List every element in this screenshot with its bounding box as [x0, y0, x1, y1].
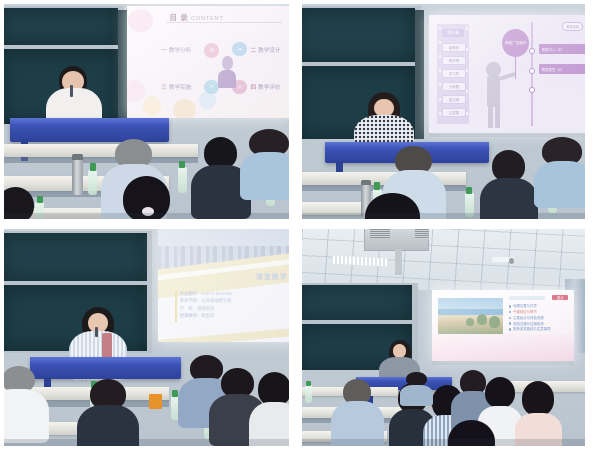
filmstrip-perforation: [466, 48, 468, 51]
avatar-body: [218, 70, 236, 88]
filmstrip-perforation: [466, 90, 468, 93]
foreground-shadow: [4, 439, 289, 446]
slide-item-3: 三教学实施: [161, 83, 191, 91]
collage-panel-top-right: 教学目标 第五章 新教材 教学情 学习时 分析数 重点难: [296, 0, 590, 225]
filmstrip-perforation: [439, 112, 441, 115]
bottle-cap-2: [172, 390, 178, 397]
slide-sidebar-item-2: 教学情: [442, 56, 466, 65]
slide-photo-tree-1: [477, 314, 487, 325]
audience-body-8: [400, 385, 433, 406]
slide-title: 目 录 CONTENT: [170, 12, 224, 23]
slide-field-label-2: 参评学部：: [180, 298, 201, 303]
lecture-podium: [10, 118, 170, 142]
student-desk-row-1: [4, 144, 198, 157]
bullet-dot-icon: [509, 311, 512, 314]
filmstrip-perforation: [466, 69, 468, 72]
slide-field-value-1: How to describe: [201, 291, 232, 296]
slide-item-1-num: 一: [161, 48, 167, 54]
foreground-shadow: [302, 213, 585, 219]
orange-cup: [149, 394, 162, 409]
audience-member-3: [489, 150, 529, 219]
slide-field-label-4: 授课教师：: [180, 313, 201, 318]
slide-timeline-node-1: [529, 48, 535, 54]
slide-pink-wash: [432, 334, 574, 361]
slide-figure-leg-right: [495, 105, 500, 129]
audience-body-4: [534, 161, 585, 209]
audience-member-5: [255, 372, 289, 446]
slide-item-2-num: 二: [251, 48, 257, 54]
projection-screen: 重点 地理位置与环境 气候特征与季节 主要景点与特色资源 旅游交通与住宿安排 推…: [432, 290, 574, 362]
collage-panel-top-left: 目 录 CONTENT 一教学分析 ▤ ☁ 二教学设计 三教学实施 ✕ ◎: [0, 0, 296, 225]
slide-title-rule: [166, 22, 282, 23]
classroom-photo-top-right: 教学目标 第五章 新教材 教学情 学习时 分析数 重点难: [302, 4, 585, 219]
audience-member-4: [540, 137, 585, 202]
collage-panel-bottom-left: 课堂教学 作品题目：How to describe 参评学部：公共基础教学部 学…: [0, 225, 296, 450]
audience-body-4: [240, 152, 289, 200]
slide-sidebar-item-1: 新教材: [442, 43, 466, 52]
slide-item-1: 一教学分析: [161, 46, 191, 54]
slide-fields: 作品题目：How to describe 参评学部：公共基础教学部 学 科：基础…: [180, 290, 232, 320]
lecture-podium: [30, 357, 181, 379]
slide-bullet-5: 推荐游览路线与注意事项: [509, 326, 551, 331]
chalkboard-upper: [4, 233, 147, 281]
bottle-cap-1: [90, 163, 96, 171]
slide-blob-1: [128, 9, 153, 31]
audience-member-2: [87, 379, 130, 446]
slide-avatar-icon: [217, 56, 237, 87]
slide-bullet-4-text: 旅游交通与住宿安排: [513, 322, 544, 326]
slide-field-value-3: 基础英语: [197, 306, 214, 311]
thermos-flask: [72, 159, 82, 196]
slide-timeline-node-3: [529, 87, 535, 93]
ceiling-speaker: [509, 258, 515, 263]
water-bottle-1: [88, 170, 97, 196]
slide-photo-tree-2: [489, 316, 501, 328]
slide-balloon: 网络广告制作: [502, 29, 529, 57]
audience-member-8: [404, 372, 429, 402]
slide-field-value-4: 柳圣岚: [201, 313, 214, 318]
slide-blob-3: [143, 96, 161, 116]
slide-figure-arm: [499, 72, 517, 81]
slide-accent-bar: [175, 291, 177, 321]
filmstrip-perforation: [439, 55, 441, 58]
slide-bullet-2-text: 气候特征与季节: [513, 310, 537, 314]
podium-top: [30, 357, 181, 363]
podium-top: [10, 118, 170, 124]
filmstrip-perforation: [466, 112, 468, 115]
slide-field-label-1: 作品题目：: [180, 291, 201, 296]
water-bottle-2: [178, 167, 187, 193]
audience-member-3: [201, 137, 241, 210]
slide-item-3-num: 三: [161, 85, 167, 91]
audience-member-1: [339, 379, 376, 444]
slide-blob-2: [127, 80, 145, 102]
filmstrip-perforation: [466, 27, 468, 30]
audience-member-6: [520, 381, 557, 446]
audience-member-1: [4, 366, 38, 435]
slide-figure-leg-left: [488, 105, 493, 129]
slide-bullet-2: 气候特征与季节: [509, 309, 537, 314]
slide-field-value-2: 公共基础教学部: [201, 298, 231, 303]
slide-chip-2: ☁: [232, 42, 247, 57]
slide-bullet-1-text: 地理位置与环境: [513, 304, 537, 308]
thermos-cap: [72, 154, 82, 160]
slide-heading-box: [509, 296, 546, 300]
slide-item-4-num: 四: [251, 85, 257, 91]
foreground-shadow: [4, 213, 289, 219]
slide-red-tag: 重点: [552, 295, 568, 300]
slide-sidebar-item-5: 重点难: [442, 95, 466, 104]
bottle-cap-4: [37, 196, 43, 202]
audience-hair-6: [522, 381, 554, 416]
slide-figure-torso: [487, 76, 500, 107]
slide-bullet-3: 主要景点与特色资源: [509, 315, 544, 320]
foreground-shadow: [302, 439, 585, 446]
ac-duct: [395, 249, 402, 275]
slide-sidebar-item-6: 达成果: [442, 108, 466, 117]
slide-timeline-item-2: 情境探究（5′）: [539, 64, 585, 73]
bullet-dot-icon: [509, 328, 512, 331]
chalkboard-upper: [302, 285, 412, 320]
slide-item-2: 二教学设计: [251, 46, 281, 54]
classroom-photo-bottom-left: 课堂教学 作品题目：How to describe 参评学部：公共基础教学部 学…: [4, 229, 289, 446]
bullet-dot-icon: [509, 317, 512, 320]
slide-figure-head: [486, 62, 500, 77]
slide-sidebar-item-3: 学习时: [442, 69, 466, 78]
slide-bullet-4: 旅游交通与住宿安排: [509, 321, 544, 326]
slide-chip-1: ▤: [204, 43, 219, 58]
projection-screen: 课堂教学 作品题目：How to describe 参评学部：公共基础教学部 学…: [158, 229, 289, 342]
filmstrip-perforation: [439, 83, 441, 86]
water-bottle-1: [305, 385, 312, 402]
chalkboard-upper: [302, 8, 415, 62]
slide-timeline-item-1: 情境引入（5′）: [539, 44, 585, 53]
collage-panel-bottom-right: 重点 地理位置与环境 气候特征与季节 主要景点与特色资源 旅游交通与住宿安排 推…: [296, 225, 590, 450]
filmstrip-perforation: [439, 41, 441, 44]
slide-sidebar-item-4: 分析数: [442, 82, 466, 91]
bottle-cap-1: [306, 381, 311, 386]
filmstrip-perforation: [439, 27, 441, 30]
slide-bullet-3-text: 主要景点与特色资源: [513, 316, 544, 320]
slide-field-row-3: 学 科：基础英语: [180, 305, 232, 313]
slide-timeline-node-2: [529, 68, 535, 74]
projection-screen: 目 录 CONTENT 一教学分析 ▤ ☁ 二教学设计 三教学实施 ✕ ◎: [127, 6, 289, 118]
bottle-cap-2: [179, 161, 185, 169]
slide-title: 课堂教学: [256, 272, 288, 282]
slide-title-en: CONTENT: [191, 16, 224, 22]
avatar-head: [222, 56, 232, 70]
audience-hair-5: [485, 377, 515, 409]
slide-bottom-band: [158, 328, 289, 342]
slide-bullet-1: 地理位置与环境: [509, 303, 537, 308]
slide-blob-4: [173, 99, 196, 118]
slide-field-row-2: 参评学部：公共基础教学部: [180, 297, 232, 305]
slide-field-row-4: 授课教师：柳圣岚: [180, 312, 232, 320]
slide-item-4: 四教学评价: [251, 83, 281, 91]
slide-photo-tree-3: [466, 318, 474, 326]
slide-header-button: 教学目标: [562, 22, 583, 31]
thermos-cap: [361, 180, 371, 185]
filmstrip-perforation: [439, 69, 441, 72]
audience-member-4: [246, 129, 289, 194]
slide-item-2-label: 教学设计: [258, 48, 280, 54]
bullet-dot-icon: [509, 322, 512, 325]
slide-field-label-3: 学 科：: [180, 306, 197, 311]
classroom-photo-top-left: 目 录 CONTENT 一教学分析 ▤ ☁ 二教学设计 三教学实施 ✕ ◎: [4, 4, 289, 219]
ac-vent: [415, 229, 429, 239]
slide-bullet-5-text: 推荐游览路线与注意事项: [513, 327, 550, 331]
desk-edge-1: [4, 157, 198, 163]
chalkboard-side: [415, 10, 423, 139]
slide-field-row-1: 作品题目：How to describe: [180, 290, 232, 298]
slide-chapter-tag: 第五章: [442, 29, 464, 37]
ac-vent: [370, 229, 390, 238]
bottle-cap-2: [466, 187, 472, 194]
slide-photo-sea: [438, 309, 503, 315]
microphone: [95, 327, 98, 337]
chalkboard-upper: [4, 8, 118, 45]
filmstrip-perforation: [439, 98, 441, 101]
projection-screen: 教学目标 第五章 新教材 教学情 学习时 分析数 重点难: [429, 15, 585, 133]
slide-item-3-label: 教学实施: [169, 85, 191, 91]
slide-item-1-label: 教学分析: [169, 48, 191, 54]
classroom-photo-bottom-right: 重点 地理位置与环境 气候特征与季节 主要景点与特色资源 旅游交通与住宿安排 推…: [302, 229, 585, 446]
photo-collage: 目 录 CONTENT 一教学分析 ▤ ☁ 二教学设计 三教学实施 ✕ ◎: [0, 0, 600, 450]
microphone: [70, 85, 73, 96]
slide-photo: [438, 298, 503, 334]
bottle-cap-1: [374, 182, 380, 190]
slide-item-4-label: 教学评价: [258, 85, 280, 91]
screen-base-shadow: [432, 361, 574, 364]
audience-body-1: [4, 389, 49, 443]
slide-title-cn: 目 录: [170, 13, 189, 22]
bullet-dot-icon: [509, 305, 512, 308]
